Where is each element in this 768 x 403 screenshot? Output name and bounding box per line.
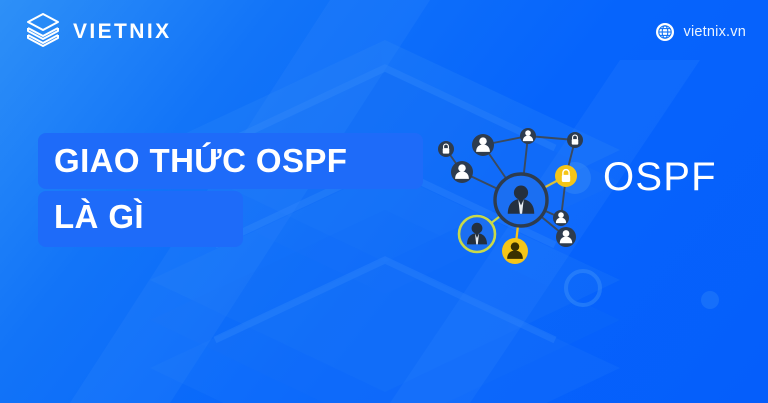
globe-icon <box>655 22 675 42</box>
site-url-text: vietnix.vn <box>684 24 746 40</box>
node-person-upper-right <box>520 128 536 144</box>
headline-line-1: GIAO THỨC OSPF <box>38 133 458 189</box>
banner-header: VIETNIX vietnix.vn <box>0 0 768 64</box>
ospf-network-illustration <box>435 108 605 278</box>
node-center <box>495 174 547 226</box>
brand-logo[interactable]: VIETNIX <box>24 11 171 53</box>
ospf-label: OSPF <box>603 152 717 202</box>
headline-line-2: LÀ GÌ <box>38 189 458 245</box>
brand-name: VIETNIX <box>73 20 171 44</box>
node-lock-far-right <box>567 132 583 148</box>
site-url-group[interactable]: vietnix.vn <box>655 22 746 42</box>
stacked-layers-icon <box>24 11 62 53</box>
node-person-right-small <box>553 210 569 226</box>
node-person-bottom-right <box>556 227 576 247</box>
ospf-banner: VIETNIX vietnix.vn GIAO THỨC OSPF LÀ GÌ … <box>0 0 768 403</box>
node-person-yellow-bottom <box>502 238 528 264</box>
node-lock-yellow <box>555 165 577 187</box>
node-person-lime-ring <box>459 216 495 252</box>
node-person-top <box>472 134 494 156</box>
headline-block: GIAO THỨC OSPF LÀ GÌ <box>38 133 458 245</box>
